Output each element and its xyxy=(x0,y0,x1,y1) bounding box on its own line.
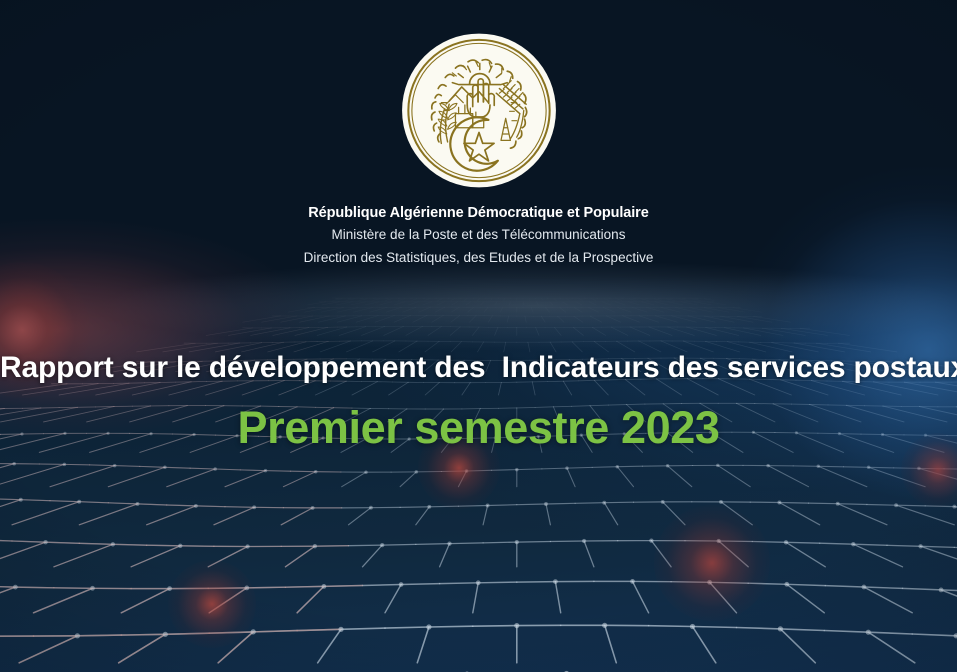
national-emblem-icon xyxy=(400,32,557,189)
cover-content: République Algérienne Démocratique et Po… xyxy=(0,0,957,672)
department-name: Direction des Statistiques, des Etudes e… xyxy=(0,246,957,269)
emblem-artwork xyxy=(400,32,557,189)
country-name: République Algérienne Démocratique et Po… xyxy=(0,204,957,223)
report-period: Premier semestre 2023 xyxy=(0,401,957,454)
report-cover-page: République Algérienne Démocratique et Po… xyxy=(0,0,957,672)
organization-block: République Algérienne Démocratique et Po… xyxy=(0,204,957,269)
report-title: Rapport sur le développement des Indicat… xyxy=(0,350,957,386)
ministry-name: Ministère de la Poste et des Télécommuni… xyxy=(0,223,957,246)
